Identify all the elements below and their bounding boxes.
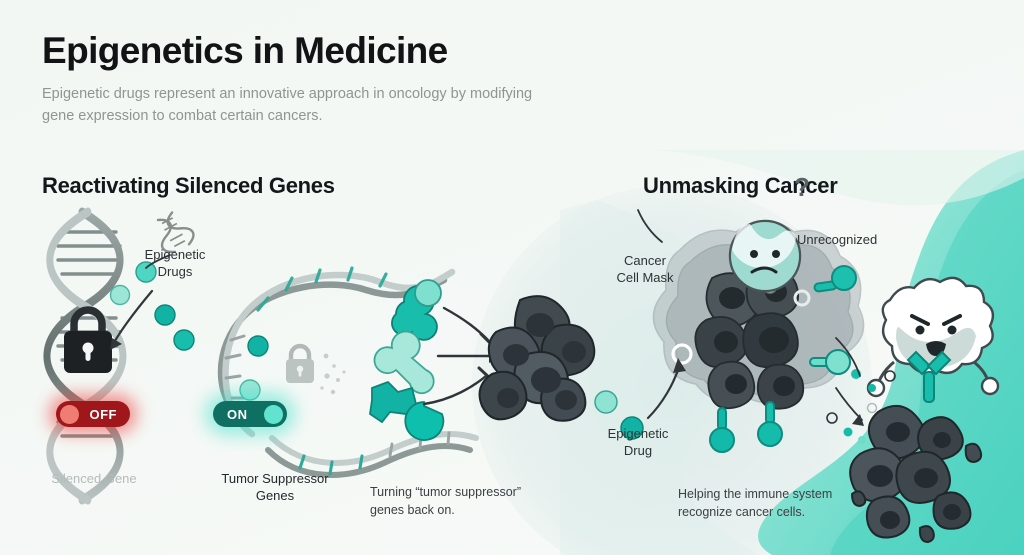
header: Epigenetics in Medicine Epigenetic drugs… [42,30,662,128]
mask-leader-line [638,210,662,242]
tumor-suppressor-genes-label: Tumor Suppressor Genes [195,470,355,504]
epigenetic-drug-label: Epigenetic Drug [592,425,684,459]
dissolving-padlock-icon [286,346,346,394]
angry-immune-cell-icon [868,278,998,402]
infographic-canvas: Epigenetics in Medicine Epigenetic drugs… [0,0,1024,555]
left-result-caption: Turning “tumor suppressor” genes back on… [370,484,585,520]
cancer-cell-mask-label: Cancer Cell Mask [600,252,690,286]
page-title: Epigenetics in Medicine [42,30,662,71]
toggle-off-label: OFF [90,407,118,422]
silenced-gene-label: Silenced Gene [30,470,158,487]
toggle-on-label: ON [227,407,248,422]
page-subtitle: Epigenetic drugs represent an innovative… [42,83,562,127]
gene-toggle-on[interactable]: ON [213,401,287,427]
toggle-knob-off [60,405,79,424]
epigenetic-drugs-label: Epigenetic Drugs [128,246,222,280]
reactivated-protein-shapes [370,280,443,440]
unrecognized-label: Unrecognized [797,231,907,248]
gene-toggle-off[interactable]: OFF [56,401,130,427]
toggle-knob-on [264,405,283,424]
right-result-caption: Helping the immune system recognize canc… [678,486,878,522]
svg-text:?: ? [794,172,810,202]
